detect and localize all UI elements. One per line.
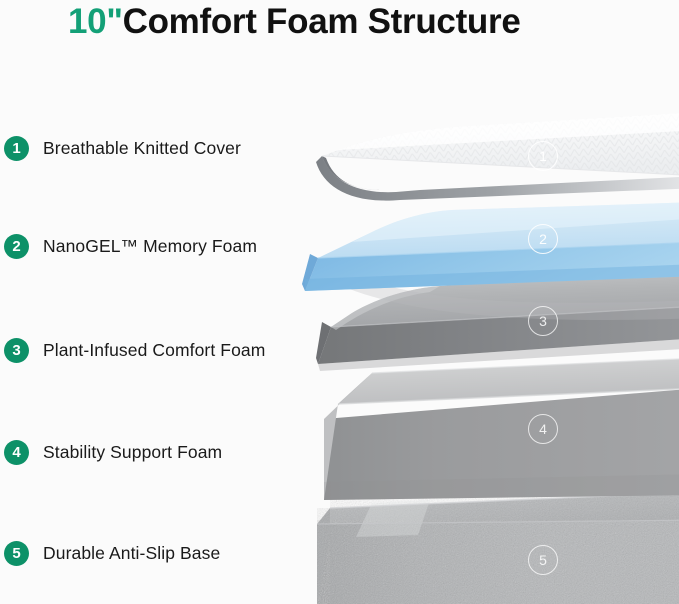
legend-label-4: Stability Support Foam: [43, 442, 222, 463]
legend-label-1: Breathable Knitted Cover: [43, 138, 241, 159]
legend-item-1[interactable]: 1 Breathable Knitted Cover: [4, 135, 241, 161]
title-rest: Comfort Foam Structure: [123, 2, 521, 41]
legend-item-2[interactable]: 2 NanoGEL™ Memory Foam: [4, 233, 257, 259]
illustration-badge-1: 1: [528, 141, 558, 171]
illustration-badge-3: 3: [528, 306, 558, 336]
foam-layer-illustration: [0, 0, 679, 604]
legend-badge-2: 2: [4, 234, 29, 259]
legend-label-2: NanoGEL™ Memory Foam: [43, 236, 257, 257]
legend-item-5[interactable]: 5 Durable Anti-Slip Base: [4, 540, 220, 566]
foam-layer-4-shape: [324, 358, 679, 500]
illustration-badge-2: 2: [528, 224, 558, 254]
foam-structure-infographic: 10"Comfort Foam Structure: [0, 0, 679, 604]
legend-item-3[interactable]: 3 Plant-Infused Comfort Foam: [4, 337, 265, 363]
legend-item-4[interactable]: 4 Stability Support Foam: [4, 439, 222, 465]
illustration-badge-5: 5: [528, 545, 558, 575]
legend-label-5: Durable Anti-Slip Base: [43, 543, 220, 564]
foam-layer-5-shape: [317, 492, 679, 604]
title-thickness: 10": [68, 2, 123, 41]
legend-badge-3: 3: [4, 338, 29, 363]
legend-badge-1: 1: [4, 136, 29, 161]
legend-label-3: Plant-Infused Comfort Foam: [43, 340, 265, 361]
foam-layer-2-shape: [302, 202, 679, 320]
foam-layer-3-shape: [316, 268, 679, 371]
page-title: 10"Comfort Foam Structure: [68, 2, 521, 42]
foam-layer-1-shape: [316, 112, 679, 201]
illustration-badge-4: 4: [528, 414, 558, 444]
legend-badge-5: 5: [4, 541, 29, 566]
legend-badge-4: 4: [4, 440, 29, 465]
